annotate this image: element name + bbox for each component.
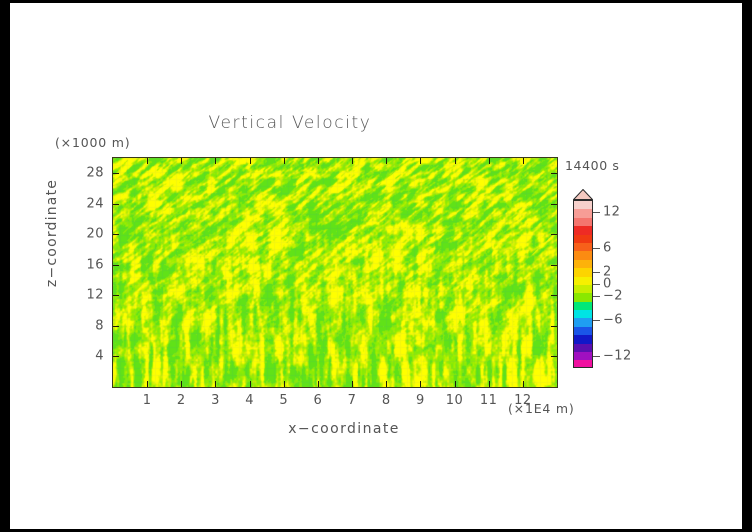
y-tick-label: 24	[72, 196, 104, 211]
page-title: Vertical Velocity	[10, 113, 570, 133]
x-tick-mark	[215, 381, 216, 387]
x-tick-mark	[147, 158, 148, 164]
x-tick-label: 8	[382, 393, 391, 408]
contour-plot-area	[112, 157, 558, 388]
y-tick-label: 8	[72, 318, 104, 333]
x-tick-mark	[523, 158, 524, 164]
x-tick-mark	[181, 381, 182, 387]
x-tick-mark	[250, 158, 251, 164]
x-tick-label: 2	[177, 393, 186, 408]
colorbar-band	[574, 293, 592, 301]
y-tick-mark	[113, 295, 119, 296]
frame-border-left	[0, 0, 10, 532]
x-tick-mark	[250, 381, 251, 387]
y-tick-mark	[113, 204, 119, 205]
colorbar-tick-label: 6	[603, 241, 612, 256]
colorbar-band	[574, 360, 592, 368]
y-tick-label: 16	[72, 257, 104, 272]
timestamp-label: 14400 s	[565, 158, 619, 173]
x-tick-mark	[181, 158, 182, 164]
colorbar-band	[574, 251, 592, 259]
colorbar-band	[574, 243, 592, 251]
colorbar-band	[574, 218, 592, 226]
x-tick-label: 12	[514, 393, 532, 408]
x-tick-mark	[386, 381, 387, 387]
x-tick-mark	[523, 381, 524, 387]
x-tick-mark	[284, 158, 285, 164]
y-tick-mark	[551, 295, 557, 296]
y-tick-label: 4	[72, 349, 104, 364]
x-tick-label: 6	[314, 393, 323, 408]
colorbar-band	[574, 344, 592, 352]
colorbar-band	[574, 268, 592, 276]
colorbar-band	[574, 277, 592, 285]
x-tick-label: 1	[143, 393, 152, 408]
x-tick-label: 10	[446, 393, 464, 408]
colorbar-band	[574, 335, 592, 343]
x-tick-label: 4	[245, 393, 254, 408]
colorbar-tick-label: −2	[603, 289, 623, 304]
colorbar-band	[574, 318, 592, 326]
y-tick-mark	[113, 356, 119, 357]
x-tick-label: 7	[348, 393, 357, 408]
colorbar-band	[574, 260, 592, 268]
colorbar-tick-label: −12	[603, 349, 632, 364]
colorbar-tick-mark	[593, 272, 600, 273]
plot-canvas: Vertical Velocity (×1000 m) (×1E4 m) 144…	[10, 3, 742, 529]
colorbar-tick-mark	[593, 284, 600, 285]
colorbar-band	[574, 226, 592, 234]
colorbar-tick-label: −6	[603, 313, 623, 328]
y-tick-mark	[113, 265, 119, 266]
y-axis-unit-label: (×1000 m)	[55, 135, 130, 150]
x-tick-mark	[147, 381, 148, 387]
colorbar-band	[574, 310, 592, 318]
x-tick-mark	[455, 158, 456, 164]
colorbar-tick-mark	[593, 248, 600, 249]
colorbar-band	[574, 201, 592, 209]
y-tick-mark	[551, 204, 557, 205]
colorbar-tick-mark	[593, 296, 600, 297]
colorbar-bands	[573, 200, 593, 368]
frame-border-right	[742, 0, 752, 532]
vertical-velocity-field	[113, 158, 557, 387]
y-tick-mark	[113, 326, 119, 327]
x-axis-title: x−coordinate	[122, 421, 566, 437]
colorbar-tick-mark	[593, 320, 600, 321]
colorbar-band	[574, 327, 592, 335]
y-tick-mark	[113, 234, 119, 235]
x-tick-label: 11	[480, 393, 498, 408]
y-tick-mark	[551, 234, 557, 235]
colorbar-band	[574, 285, 592, 293]
x-tick-mark	[455, 381, 456, 387]
colorbar-tick-mark	[593, 212, 600, 213]
colorbar-band	[574, 352, 592, 360]
colorbar-tick-mark	[593, 356, 600, 357]
y-tick-mark	[551, 173, 557, 174]
colorbar-band	[574, 302, 592, 310]
y-tick-label: 20	[72, 227, 104, 242]
x-tick-mark	[318, 381, 319, 387]
x-tick-mark	[352, 381, 353, 387]
y-axis-title: z−coordinate	[44, 163, 60, 303]
colorbar-band	[574, 209, 592, 217]
x-tick-mark	[215, 158, 216, 164]
colorbar-tick-label: 12	[603, 205, 620, 220]
x-tick-mark	[386, 158, 387, 164]
y-tick-mark	[551, 326, 557, 327]
x-tick-mark	[420, 381, 421, 387]
figure-page: Vertical Velocity (×1000 m) (×1E4 m) 144…	[0, 0, 752, 532]
x-tick-label: 5	[279, 393, 288, 408]
x-tick-label: 3	[211, 393, 220, 408]
y-tick-mark	[113, 173, 119, 174]
triangle-up-icon	[573, 189, 593, 200]
y-tick-mark	[551, 265, 557, 266]
x-tick-mark	[420, 158, 421, 164]
x-tick-mark	[284, 381, 285, 387]
x-tick-mark	[318, 158, 319, 164]
x-tick-mark	[489, 381, 490, 387]
y-tick-label: 12	[72, 288, 104, 303]
colorbar-band	[574, 235, 592, 243]
x-tick-label: 9	[416, 393, 425, 408]
x-tick-mark	[352, 158, 353, 164]
x-tick-mark	[489, 158, 490, 164]
y-tick-mark	[551, 356, 557, 357]
y-tick-label: 28	[72, 166, 104, 181]
